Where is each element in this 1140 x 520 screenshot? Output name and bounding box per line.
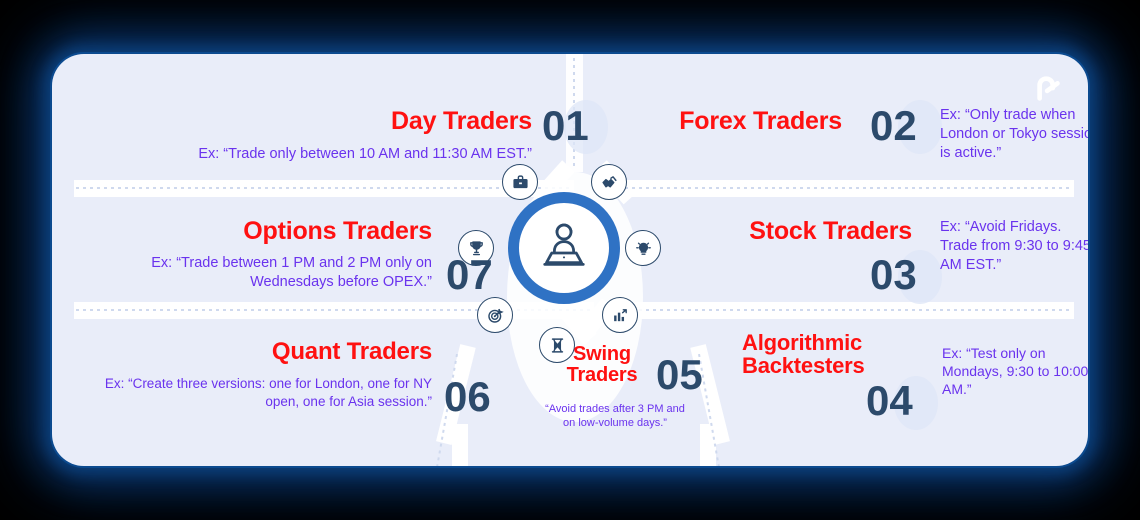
- dotted-line-row2-right: [604, 309, 1072, 311]
- item-04-title: Algorithmic Backtesters: [742, 332, 922, 378]
- item-04-algorithmic-backtesters: Algorithmic Backtesters: [742, 332, 922, 378]
- item-06-number: 06: [444, 376, 491, 418]
- item-07-title: Options Traders: [92, 218, 432, 244]
- item-04-example: Ex: “Test only on Mondays, 9:30 to 10:00…: [942, 344, 1088, 399]
- item-01-day-traders: Day Traders Ex: “Trade only between 10 A…: [102, 108, 532, 164]
- lightbulb-icon[interactable]: [625, 230, 661, 266]
- item-03-stock-traders: Stock Traders: [692, 218, 912, 244]
- item-02-title: Forex Traders: [627, 108, 842, 134]
- item-01-title: Day Traders: [102, 108, 532, 134]
- item-01-number: 01: [542, 105, 589, 147]
- item-07-example: Ex: “Trade between 1 PM and 2 PM only on…: [92, 254, 432, 292]
- item-07-options-traders: Options Traders Ex: “Trade between 1 PM …: [92, 218, 432, 292]
- handshake-icon[interactable]: [591, 164, 627, 200]
- item-05-swing-traders: Swing Traders: [548, 344, 656, 386]
- item-03-example: Ex: “Avoid Fridays. Trade from 9:30 to 9…: [940, 218, 1088, 275]
- item-03-number: 03: [870, 254, 917, 296]
- bar-chart-arrow-icon[interactable]: [602, 297, 638, 333]
- item-05-example: “Avoid trades after 3 PM and on low-volu…: [540, 402, 690, 431]
- hub-circle: [508, 192, 620, 304]
- item-04-number: 04: [866, 380, 913, 422]
- infographic-stage: Day Traders Ex: “Trade only between 10 A…: [0, 0, 1140, 520]
- item-05-title: Swing Traders: [548, 344, 656, 386]
- item-02-number: 02: [870, 105, 917, 147]
- dotted-line-row1-right: [618, 187, 1072, 189]
- logo-mark-icon: [1034, 74, 1064, 104]
- item-06-quant-traders: Quant Traders Ex: “Create three versions…: [82, 340, 432, 410]
- item-06-title: Quant Traders: [82, 340, 432, 365]
- infographic-card: Day Traders Ex: “Trade only between 10 A…: [52, 54, 1088, 466]
- person-at-laptop-icon: [536, 218, 592, 279]
- item-02-forex-traders: Forex Traders: [627, 108, 842, 134]
- briefcase-icon[interactable]: [502, 164, 538, 200]
- item-05-number: 05: [656, 354, 703, 396]
- ribbon-leg-left-lower: [452, 424, 468, 466]
- item-06-example: Ex: “Create three versions: one for Lond…: [82, 375, 432, 410]
- item-07-number: 07: [446, 254, 493, 296]
- item-02-example: Ex: “Only trade when London or Tokyo ses…: [940, 106, 1088, 163]
- item-01-example: Ex: “Trade only between 10 AM and 11:30 …: [102, 145, 532, 164]
- item-03-title: Stock Traders: [692, 218, 912, 244]
- dotted-line-row1-left: [76, 187, 570, 189]
- target-icon[interactable]: [477, 297, 513, 333]
